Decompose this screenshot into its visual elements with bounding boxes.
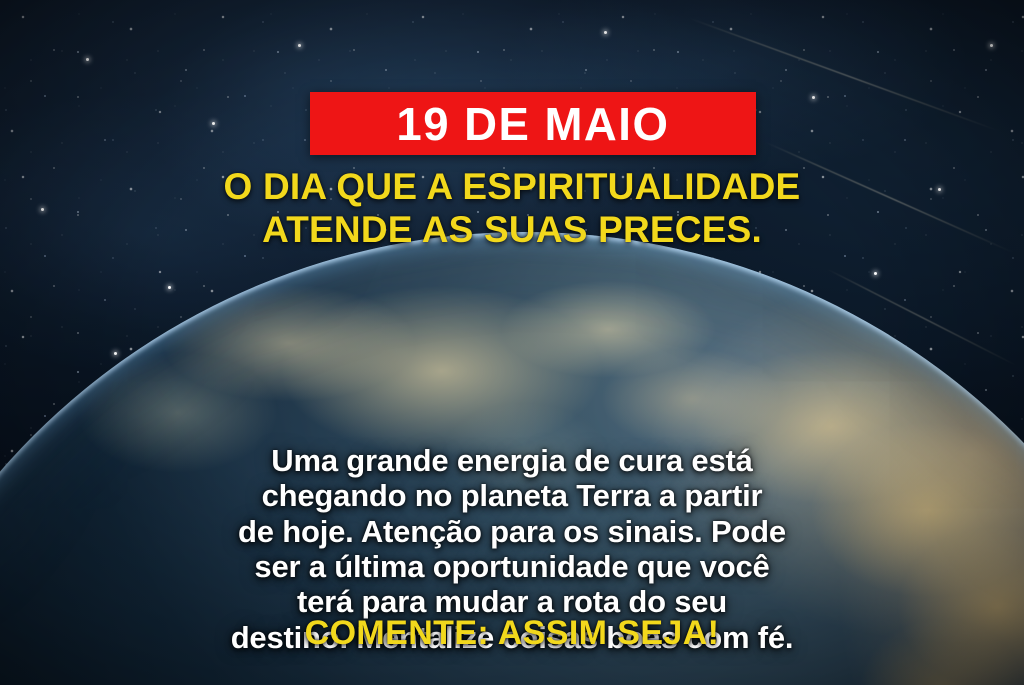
body-line: ser a última oportunidade que você <box>48 549 976 584</box>
call-to-action: COMENTE: ASSIM SEJA! <box>0 614 1024 653</box>
poster-canvas: 19 DE MAIO O DIA QUE A ESPIRITUALIDADE A… <box>0 0 1024 685</box>
date-banner: 19 DE MAIO <box>310 92 756 155</box>
poster-content: 19 DE MAIO O DIA QUE A ESPIRITUALIDADE A… <box>0 0 1024 685</box>
headline: O DIA QUE A ESPIRITUALIDADE ATENDE AS SU… <box>0 166 1024 252</box>
headline-line-2: ATENDE AS SUAS PRECES. <box>262 209 762 250</box>
body-line: de hoje. Atenção para os sinais. Pode <box>48 514 976 549</box>
call-to-action-label: COMENTE: ASSIM SEJA! <box>305 614 720 652</box>
headline-line-1: O DIA QUE A ESPIRITUALIDADE <box>224 166 801 207</box>
body-line: chegando no planeta Terra a partir <box>48 478 976 513</box>
body-line: Uma grande energia de cura está <box>48 443 976 478</box>
date-banner-label: 19 DE MAIO <box>397 101 670 147</box>
